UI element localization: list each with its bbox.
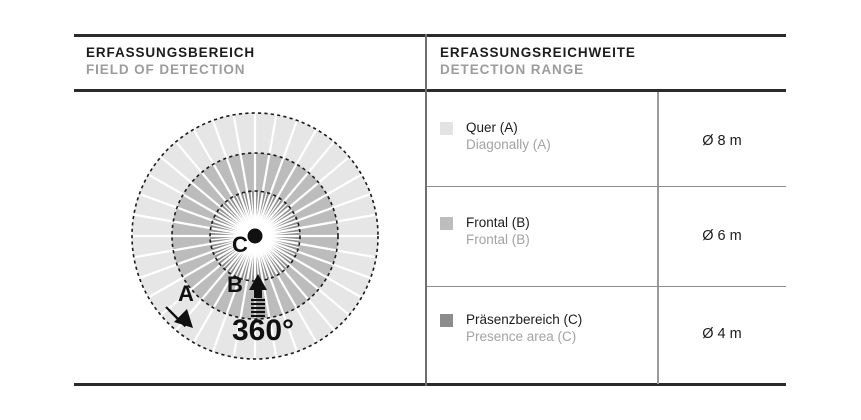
legend-label-b-en: Frontal (B) — [466, 231, 530, 248]
column-header-detection-range: ERFASSUNGSREICHWEITE DETECTION RANGE — [440, 44, 636, 79]
legend-row-praesenzbereich-c: Präsenzbereich (C) Presence area (C) — [440, 311, 655, 357]
legend-label-b-de: Frontal (B) — [466, 214, 530, 231]
legend-swatch-a — [440, 122, 453, 135]
column-header-detection-range-de: ERFASSUNGSREICHWEITE — [440, 44, 636, 61]
legend-label-c-de: Präsenzbereich (C) — [466, 311, 582, 328]
range-value-a: Ø 8 m — [658, 133, 786, 149]
column-header-field-of-detection-de: ERFASSUNGSBEREICH — [86, 44, 255, 61]
legend-label-c-en: Presence area (C) — [466, 328, 582, 345]
diagram-angle-label: 360° — [232, 314, 294, 347]
legend-swatch-b — [440, 217, 453, 230]
detection-field-diagram: CBA360° — [118, 99, 392, 373]
range-value-b: Ø 6 m — [658, 228, 786, 244]
frame-rule-bottom — [74, 383, 786, 386]
frame-rule-header-bottom — [74, 89, 786, 92]
legend-label-a-de: Quer (A) — [466, 119, 551, 136]
legend-label-group-a: Quer (A) Diagonally (A) — [466, 119, 551, 153]
range-value-c: Ø 4 m — [658, 326, 786, 342]
column-divider-main — [425, 34, 427, 386]
row-divider-1 — [427, 186, 786, 187]
detection-spec-panel: ERFASSUNGSBEREICH FIELD OF DETECTION ERF… — [0, 0, 861, 420]
diagram-label-b: B — [227, 272, 243, 297]
row-divider-2 — [427, 286, 786, 287]
column-header-field-of-detection-en: FIELD OF DETECTION — [86, 61, 255, 79]
legend-row-frontal-b: Frontal (B) Frontal (B) — [440, 214, 655, 260]
legend-row-quer-a: Quer (A) Diagonally (A) — [440, 119, 655, 165]
legend-label-a-en: Diagonally (A) — [466, 136, 551, 153]
diagram-center-sensor-dot — [248, 229, 263, 244]
legend-label-group-c: Präsenzbereich (C) Presence area (C) — [466, 311, 582, 345]
frame-rule-top — [74, 34, 786, 37]
column-header-detection-range-en: DETECTION RANGE — [440, 61, 636, 79]
legend-label-group-b: Frontal (B) Frontal (B) — [466, 214, 530, 248]
diagram-label-c: C — [232, 232, 248, 257]
column-header-field-of-detection: ERFASSUNGSBEREICH FIELD OF DETECTION — [86, 44, 255, 79]
legend-swatch-c — [440, 314, 453, 327]
diagram-label-a: A — [178, 281, 194, 306]
